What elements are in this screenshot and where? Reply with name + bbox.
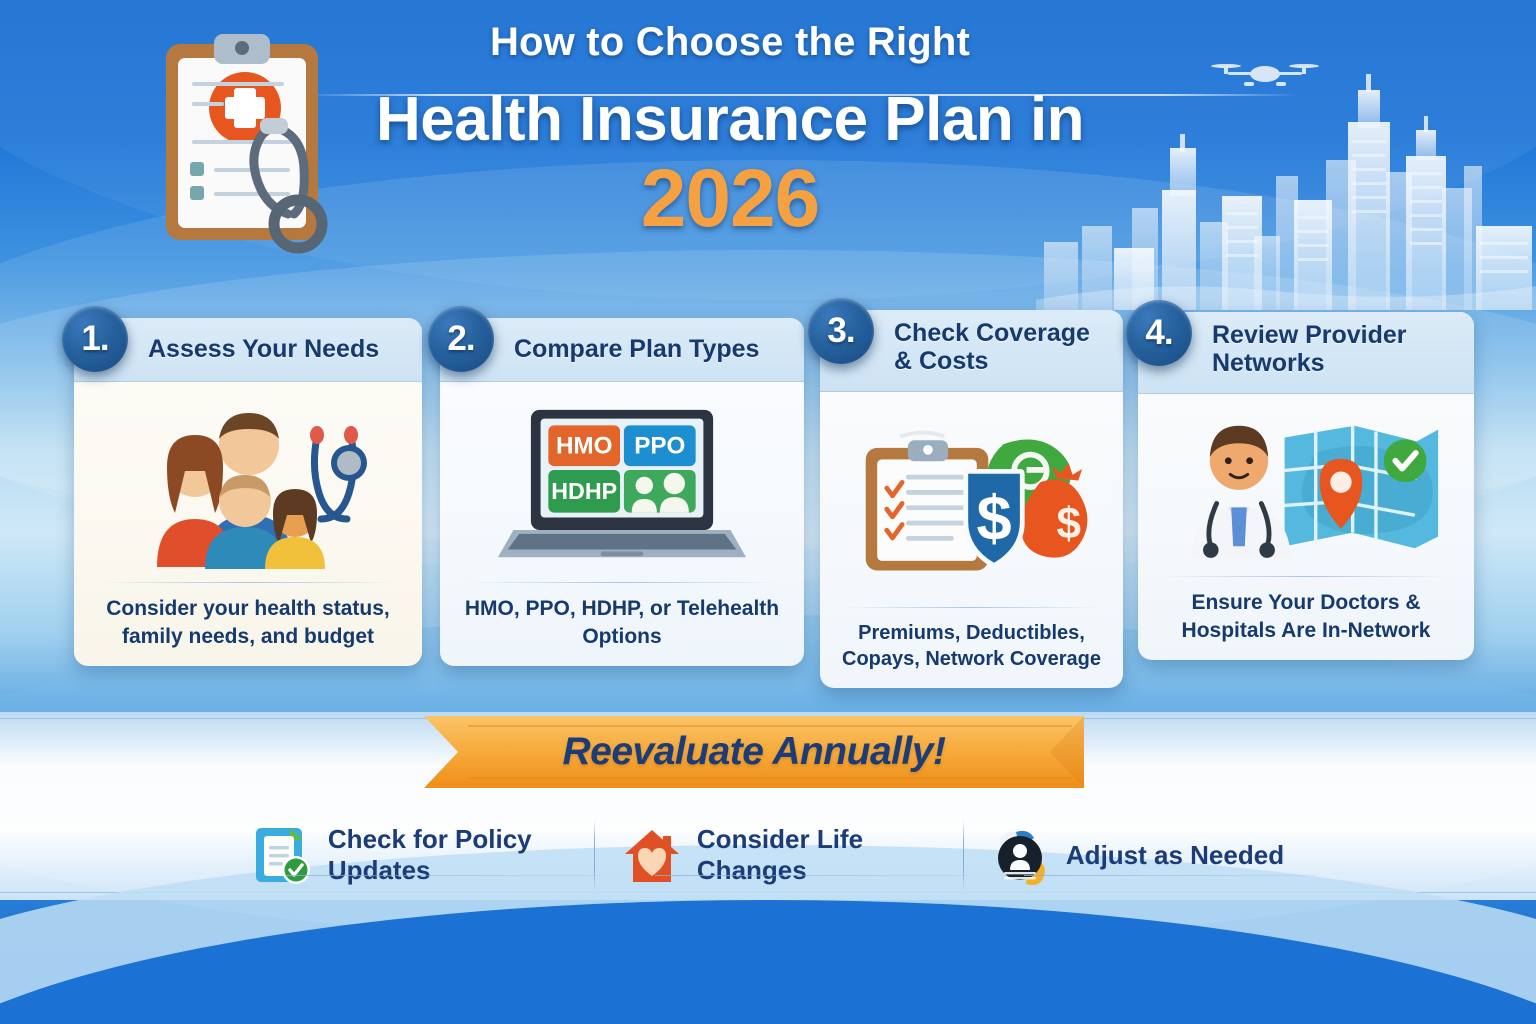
step-card-3-number-badge: 3. (808, 298, 874, 364)
step-card-3-art: $ $ (820, 392, 1123, 607)
step-card-2-description: HMO, PPO, HDHP, or Telehealth Options (440, 583, 804, 666)
step-card-3-description: Premiums, Deductibles, Copays, Network C… (820, 608, 1123, 688)
footer-rule-2 (655, 875, 969, 876)
footer-row: Check for Policy Updates Consider Life C… (0, 800, 1536, 910)
title-kicker: How to Choose the Right (330, 20, 1130, 65)
step-card-4[interactable]: Review Provider Networks (1138, 312, 1474, 660)
step-card-2[interactable]: Compare Plan Types HMO PPO HDHP (440, 318, 804, 666)
title-main: Health Insurance Plan in (330, 83, 1130, 156)
step-card-4-description: Ensure Your Doctors & Hospitals Are In-N… (1138, 577, 1474, 660)
banner-label: Reevaluate Annually! (424, 712, 1084, 792)
footer-rule-3 (1024, 875, 1316, 876)
header: How to Choose the Right Health Insurance… (0, 0, 1536, 300)
house-heart-icon (621, 824, 683, 886)
step-card-2-number-badge: 2. (428, 306, 494, 372)
title-year: 2026 (330, 158, 1130, 240)
laptop-plan-tiles-icon: HMO PPO HDHP (496, 402, 748, 567)
step-card-4-art (1138, 394, 1474, 576)
step-card-2-art: HMO PPO HDHP (440, 382, 804, 582)
footer-label-life-changes: Consider Life Changes (697, 824, 937, 885)
dollar-glyph-bag: $ (1056, 498, 1081, 547)
infographic-canvas: How to Choose the Right Health Insurance… (0, 0, 1536, 1024)
footer-rule-1 (286, 875, 600, 876)
clipboard-medical-icon (152, 28, 352, 258)
step-card-1[interactable]: Assess Your Needs (74, 318, 422, 666)
step-card-4-number-badge: 4. (1126, 300, 1192, 366)
step-card-1-title: Assess Your Needs (148, 336, 379, 364)
doctor-map-pin-icon (1170, 414, 1442, 560)
step-card-1-number-badge: 1. (62, 306, 128, 372)
step-card-1-art (74, 382, 422, 582)
reevaluate-banner[interactable]: Reevaluate Annually! (424, 712, 1084, 792)
steps-row: Assess Your Needs (0, 300, 1536, 700)
footer-label-policy-updates: Check for Policy Updates (328, 824, 568, 885)
clipboard-shield-dollar-icon: $ $ (852, 423, 1092, 581)
family-group-stethoscope-icon (123, 397, 373, 572)
step-card-2-header: Compare Plan Types (440, 318, 804, 382)
footer-item-adjust[interactable]: Adjust as Needed (964, 824, 1310, 886)
document-check-icon (252, 824, 314, 886)
step-card-3[interactable]: Check Coverage & Costs (820, 310, 1123, 688)
footer-label-adjust: Adjust as Needed (1066, 840, 1284, 871)
title-block: How to Choose the Right Health Insurance… (330, 20, 1130, 240)
user-badge-icon (990, 824, 1052, 886)
dollar-glyph-shield: $ (976, 483, 1011, 553)
tile-label-ppo: PPO (634, 432, 685, 459)
step-card-4-title: Review Provider Networks (1212, 322, 1462, 377)
step-card-1-description: Consider your health status, family need… (74, 583, 422, 666)
tile-label-hmo: HMO (556, 432, 613, 459)
tile-label-hdhp: HDHP (551, 478, 617, 504)
footer-item-life-changes[interactable]: Consider Life Changes (595, 824, 963, 886)
step-card-3-title: Check Coverage & Costs (894, 320, 1111, 375)
footer-item-policy-updates[interactable]: Check for Policy Updates (226, 824, 594, 886)
step-card-2-title: Compare Plan Types (514, 336, 759, 364)
